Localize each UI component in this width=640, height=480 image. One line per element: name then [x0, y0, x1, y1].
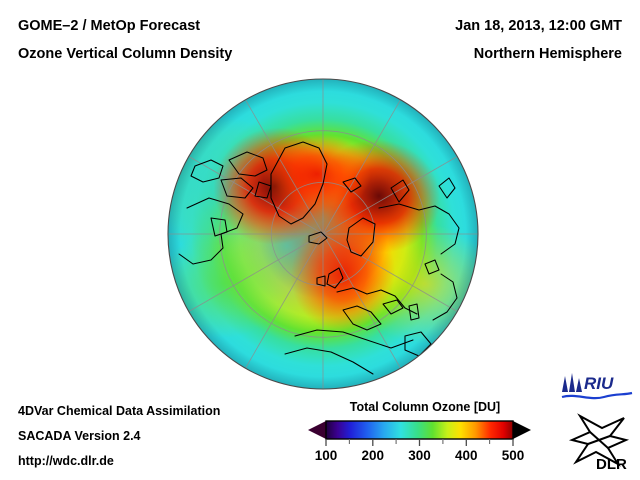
- colorbar-tick-100: 100: [315, 448, 338, 463]
- website-url[interactable]: http://wdc.dlr.de: [18, 454, 114, 468]
- colorbar-tick-400: 400: [455, 448, 478, 463]
- colorbar-tick-200: 200: [362, 448, 385, 463]
- dlr-logo: DLR: [566, 410, 632, 472]
- version-label: SACADA Version 2.4: [18, 429, 141, 443]
- globe-disk: [167, 79, 479, 389]
- colorbar-title: Total Column Ozone [DU]: [300, 400, 550, 414]
- assimilation-label: 4DVar Chemical Data Assimilation: [18, 404, 220, 418]
- forecast-region: Northern Hemisphere: [474, 46, 622, 62]
- colorbar-tick-500: 500: [502, 448, 525, 463]
- page-title: GOME–2 / MetOp Forecast: [18, 18, 200, 34]
- colorbar-major-ticks: [326, 439, 513, 446]
- colorbar-low-cap: [308, 421, 326, 439]
- colorbar-gradient: [326, 421, 513, 439]
- colorbar-tick-labels: 100 200 300 400 500: [300, 448, 550, 470]
- riu-logo-text: RIU: [584, 374, 614, 393]
- colorbar-tick-300: 300: [408, 448, 431, 463]
- ozone-forecast-figure: GOME–2 / MetOp Forecast Ozone Vertical C…: [0, 0, 640, 480]
- ozone-globe-map: [167, 78, 479, 390]
- globe-svg: [167, 78, 479, 390]
- riu-swoosh-icon: [562, 393, 632, 398]
- colorbar: Total Column Ozone [DU]: [300, 400, 550, 472]
- riu-logo: RIU: [560, 372, 634, 402]
- colorbar-svg: [300, 419, 550, 449]
- colorbar-high-cap: [513, 421, 531, 439]
- page-subtitle: Ozone Vertical Column Density: [18, 46, 232, 62]
- forecast-timestamp: Jan 18, 2013, 12:00 GMT: [455, 18, 622, 34]
- riu-tower-icon: [562, 373, 582, 392]
- dlr-logo-text: DLR: [596, 456, 627, 472]
